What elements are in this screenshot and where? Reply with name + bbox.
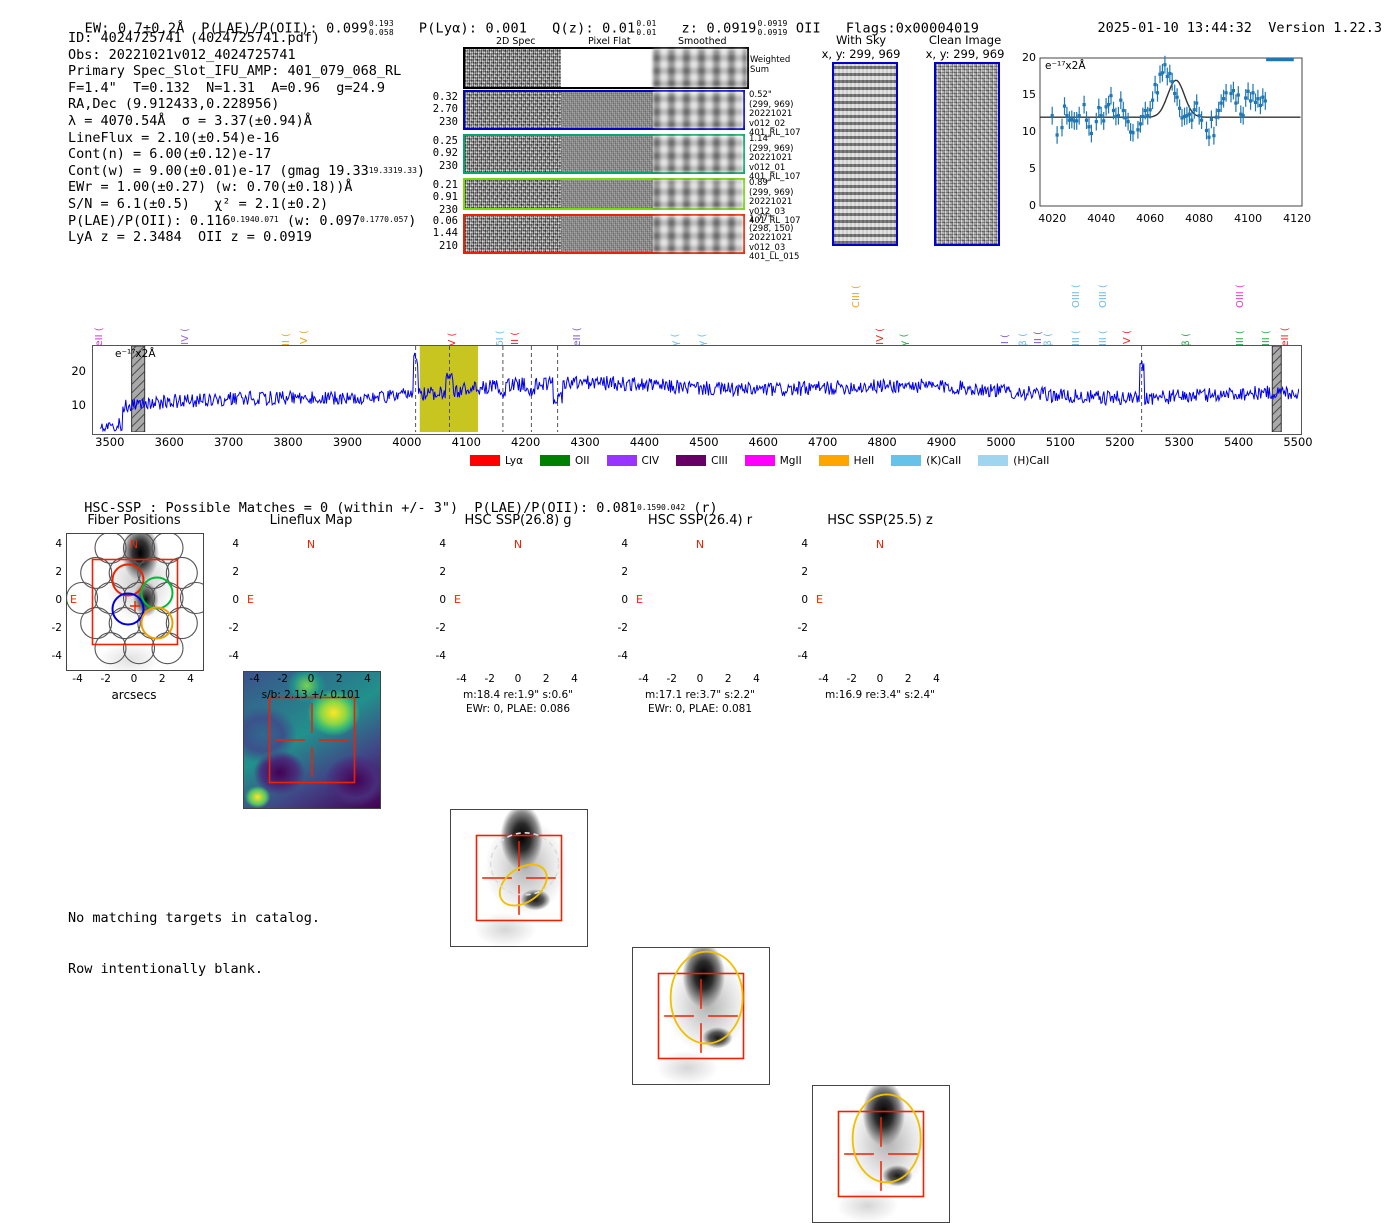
spectrum-xtick: 4500 <box>682 435 726 449</box>
panel-ytick: -2 <box>42 622 62 634</box>
panel-ytick: -2 <box>426 622 446 634</box>
spectrum-xtick: 3700 <box>207 435 251 449</box>
panel-xtick: 2 <box>532 673 560 685</box>
spectrum-legend: LyαOIICIVCIIIMgIIHeII(K)CaII(H)CaII <box>470 450 1066 469</box>
panel-xtick: -2 <box>269 673 297 685</box>
fiber-row-value: 2.70 <box>424 103 458 115</box>
fiber-2dspec <box>465 92 561 128</box>
spectrum-ytick: 10 <box>60 398 86 412</box>
emission-line-label: OIII ( <box>1098 284 1109 308</box>
info-gmag-bounds: 19.3319.33 <box>369 167 417 176</box>
compass-north: N <box>508 538 528 551</box>
fiber-smoothed <box>653 92 743 128</box>
weighted-sum-pixelflat <box>561 49 653 87</box>
spectrum-xtick: 4100 <box>444 435 488 449</box>
line-fit-ytick: 0 <box>1012 199 1036 212</box>
panel-xlabel: arcsecs <box>42 689 226 702</box>
fiber-row-value: 1.44 <box>424 227 458 239</box>
panel-title: HSC SSP(26.4) r <box>622 513 778 528</box>
panel-caption: m:16.9 re:3.4" s:2.4" <box>784 689 976 702</box>
legend-item: OII <box>540 455 589 467</box>
panel-ytick: 2 <box>608 566 628 578</box>
panel-image[interactable] <box>632 947 770 1085</box>
fiber-row-value: 0.92 <box>424 147 458 159</box>
fiber-row-strip <box>463 178 745 210</box>
full-spectrum-panel: e⁻¹⁷x2Å <box>92 345 1302 435</box>
legend-item: CIII <box>676 455 728 467</box>
info-ewr: EWr = 1.00(±0.27) (w: 0.70(±0.18))Å <box>68 179 425 196</box>
fiber-row-left-labels: 0.322.70230 <box>424 91 458 128</box>
fiber-pixelflat <box>561 136 653 172</box>
spectrum-xtick: 4300 <box>563 435 607 449</box>
spectrum-xtick: 5500 <box>1276 435 1320 449</box>
cutout-title-cleanimage: Clean Image <box>912 33 1018 47</box>
panel-xtick: -4 <box>448 673 476 685</box>
fiber-row-value: 0.25 <box>424 135 458 147</box>
panel-xtick: 4 <box>922 673 950 685</box>
panel-ytick: 4 <box>42 538 62 550</box>
fiber-row-strip <box>463 134 745 174</box>
legend-swatch <box>745 455 775 466</box>
header-timestamp-version: 2025-01-10 13:44:32 Version 1.22.3 <box>1081 4 1382 36</box>
panel-xtick: 2 <box>148 673 176 685</box>
line-fit-plot: e⁻¹⁷x2Å <box>1040 58 1302 206</box>
panel-ytick: 2 <box>788 566 808 578</box>
legend-item: HeII <box>819 455 875 467</box>
fiber-row-value: 230 <box>424 160 458 172</box>
legend-swatch <box>978 455 1008 466</box>
compass-north: N <box>690 538 710 551</box>
info-radec: RA,Dec (9.912433,0.228956) <box>68 96 425 113</box>
panel-ytick: 4 <box>219 538 239 550</box>
panel-xtick: -2 <box>838 673 866 685</box>
line-fit-ytick: 5 <box>1012 162 1036 175</box>
emission-line-label: OIII ( <box>1235 284 1246 308</box>
panel-xtick: 0 <box>686 673 714 685</box>
legend-swatch <box>607 455 637 466</box>
panel-title: Lineflux Map <box>233 513 389 528</box>
compass-east: E <box>70 593 77 606</box>
legend-label: CIV <box>642 455 660 467</box>
header-version: Version 1.22.3 <box>1268 20 1382 36</box>
legend-label: Lyα <box>505 455 523 467</box>
spectrum-xtick: 3500 <box>88 435 132 449</box>
line-fit-xtick: 4100 <box>1231 212 1265 225</box>
cutout-image-withsky <box>832 62 898 246</box>
cutout-coords-withsky: x, y: 299, 969 <box>811 47 911 61</box>
info-primary-spec: Primary Spec_Slot_IFU_AMP: 401_079_068_R… <box>68 63 425 80</box>
legend-swatch <box>676 455 706 466</box>
fiber-row-left-labels: 0.210.91230 <box>424 179 458 216</box>
footer-line-1: No matching targets in catalog. <box>68 910 320 927</box>
spectrum-xtick: 4600 <box>741 435 785 449</box>
weighted-sum-2dspec <box>465 49 561 87</box>
spectrum-ytick: 20 <box>60 364 86 378</box>
fiber-meta-line: 401_LL_015 <box>749 253 799 263</box>
panel-ytick: 2 <box>42 566 62 578</box>
panel-xtick: 4 <box>176 673 204 685</box>
fiber-row-value: 230 <box>424 116 458 128</box>
cutout-image-cleanimage <box>934 62 1000 246</box>
legend-label: HeII <box>854 455 875 467</box>
panel-ytick: 2 <box>219 566 239 578</box>
header-qz-bounds: 0.010.01 <box>636 20 656 37</box>
panel-xtick: 0 <box>866 673 894 685</box>
emission-line-label: OIII ( <box>1071 284 1082 308</box>
panel-xtick: 4 <box>353 673 381 685</box>
fiber-smoothed <box>653 180 743 208</box>
panel-ytick: -4 <box>788 650 808 662</box>
info-lambda-sigma: λ = 4070.54Å σ = 3.37(±0.94)Å <box>68 113 425 130</box>
info-cont-n: Cont(n) = 6.00(±0.12)e-17 <box>68 146 425 163</box>
panel-xtick: -4 <box>64 673 92 685</box>
fiber-row-value: 0.91 <box>424 191 458 203</box>
fiber-row-value: 0.06 <box>424 215 458 227</box>
spectrum-xtick: 4900 <box>920 435 964 449</box>
fiber-row-metadata: 1.14"(299, 969)20221021v012_01401_RL_107 <box>749 135 801 183</box>
fiber-2dspec <box>465 180 561 208</box>
info-obs: Obs: 20221021v012_4024725741 <box>68 47 425 64</box>
legend-label: CIII <box>711 455 728 467</box>
line-fit-ytick: 10 <box>1012 125 1036 138</box>
legend-item: Lyα <box>470 455 523 467</box>
compass-east: E <box>454 593 461 606</box>
panel-xtick: 0 <box>504 673 532 685</box>
legend-item: MgII <box>745 455 802 467</box>
panel-xtick: -4 <box>241 673 269 685</box>
panel-ytick: -4 <box>42 650 62 662</box>
source-info-block: ID: 4024725741 (4024725741.pdf) Obs: 202… <box>68 30 425 246</box>
fiber-row-metadata: 1.77"(298, 150)20221021v012_03401_LL_015 <box>749 215 799 263</box>
line-fit-xtick: 4080 <box>1182 212 1216 225</box>
info-lineflux: LineFlux = 2.10(±0.54)e-16 <box>68 130 425 147</box>
panel-ytick: -4 <box>426 650 446 662</box>
panel-xtick: -2 <box>92 673 120 685</box>
panel-image[interactable] <box>812 1085 950 1223</box>
panel-ytick: -2 <box>219 622 239 634</box>
panel-caption: m:18.4 re:1.9" s:0.6" <box>422 689 614 702</box>
panel-xtick: 2 <box>894 673 922 685</box>
info-id: ID: 4024725741 (4024725741.pdf) <box>68 30 425 47</box>
panel-ytick: 0 <box>42 594 62 606</box>
cutout-coords-cleanimage: x, y: 299, 969 <box>912 47 1018 61</box>
panel-image[interactable] <box>66 533 204 671</box>
fiber-2dspec <box>465 136 561 172</box>
panel-ytick: -4 <box>219 650 239 662</box>
header-z: z: 0.0919 <box>681 21 756 37</box>
legend-swatch <box>540 455 570 466</box>
fiber-pixelflat <box>561 216 653 252</box>
info-plae-w-bounds: 0.1770.057 <box>360 216 408 225</box>
spectrum-xtick: 4200 <box>504 435 548 449</box>
fiber-smoothed <box>653 216 743 252</box>
panel-ytick: 0 <box>219 594 239 606</box>
panel-ytick: 2 <box>426 566 446 578</box>
spectrum-xtick: 5100 <box>1038 435 1082 449</box>
line-fit-xtick: 4020 <box>1035 212 1069 225</box>
footer-text: No matching targets in catalog. Row inte… <box>68 876 320 995</box>
header-z-bounds: 0.09190.0919 <box>757 20 787 37</box>
spectrum-xtick: 4000 <box>385 435 429 449</box>
hsc-plae-bounds: 0.1590.042 <box>637 504 685 513</box>
fiber-row-value: 0.21 <box>424 179 458 191</box>
spectrum-xtick: 4400 <box>623 435 667 449</box>
fiber-2dspec <box>465 216 561 252</box>
spectrum-xtick: 4800 <box>860 435 904 449</box>
legend-item: (H)CaII <box>978 455 1049 467</box>
compass-east: E <box>636 593 643 606</box>
fiber-pixelflat <box>561 92 653 128</box>
hsc-summary: HSC-SSP : Possible Matches = 0 (within +… <box>68 484 718 516</box>
compass-north: N <box>870 538 890 551</box>
footer-line-2: Row intentionally blank. <box>68 961 320 978</box>
legend-swatch <box>819 455 849 466</box>
spectrum-units: e⁻¹⁷x2Å <box>115 348 156 360</box>
panel-title: Fiber Positions <box>56 513 212 528</box>
weighted-sum-strip <box>463 47 749 89</box>
fiber-row-value: 0.32 <box>424 91 458 103</box>
panel-title: HSC SSP(25.5) z <box>802 513 958 528</box>
line-fit-ytick: 20 <box>1012 51 1036 64</box>
spectrum-xtick: 3600 <box>147 435 191 449</box>
line-fit-units: e⁻¹⁷x2Å <box>1045 60 1086 72</box>
col-title-2dspec: 2D Spec <box>496 36 536 47</box>
panel-caption: m:17.1 re:3.7" s:2.2" <box>604 689 796 702</box>
legend-swatch <box>470 455 500 466</box>
fiber-row-strip <box>463 90 745 130</box>
col-title-smoothed: Smoothed <box>678 36 727 47</box>
legend-label: (K)CaII <box>926 455 961 467</box>
fiber-row-left-labels: 0.061.44210 <box>424 215 458 252</box>
header-plya: P(Lyα): 0.001 <box>419 21 527 37</box>
spectrum-xtick: 5200 <box>1098 435 1142 449</box>
fiber-pixelflat <box>561 180 653 208</box>
panel-ytick: 0 <box>788 594 808 606</box>
compass-north: N <box>124 538 144 551</box>
legend-item: CIV <box>607 455 660 467</box>
spectrum-xtick: 5300 <box>1157 435 1201 449</box>
weighted-sum-label: Weighted Sum <box>750 56 790 75</box>
panel-ytick: 4 <box>788 538 808 550</box>
emission-line-label: CIII ( <box>851 285 862 308</box>
legend-item: (K)CaII <box>891 455 961 467</box>
compass-east: E <box>247 593 254 606</box>
info-cont-w: Cont(w) = 9.00(±0.01)e-17 (gmag 19.3319.… <box>68 163 425 180</box>
fiber-row-value: 210 <box>424 240 458 252</box>
panel-xtick: 0 <box>120 673 148 685</box>
line-fit-xtick: 4060 <box>1133 212 1167 225</box>
panel-xtick: 2 <box>714 673 742 685</box>
panel-ytick: 0 <box>608 594 628 606</box>
weighted-sum-smoothed <box>653 49 747 87</box>
spectrum-xtick: 3800 <box>266 435 310 449</box>
info-plae-bounds: 0.1940.071 <box>231 216 279 225</box>
legend-label: OII <box>575 455 589 467</box>
cutout-title-withsky: With Sky <box>811 33 911 47</box>
panel-caption-2: EWr: 0, PLAE: 0.086 <box>422 703 614 716</box>
spectrum-xtick: 5000 <box>979 435 1023 449</box>
header-timestamp: 2025-01-10 13:44:32 <box>1098 20 1252 36</box>
panel-ytick: 0 <box>426 594 446 606</box>
panel-xtick: -2 <box>476 673 504 685</box>
info-sn-chi2: S/N = 6.1(±0.5) χ² = 2.1(±0.2) <box>68 196 425 213</box>
panel-xtick: -4 <box>630 673 658 685</box>
compass-north: N <box>301 538 321 551</box>
panel-image[interactable] <box>450 809 588 947</box>
panel-xtick: 4 <box>560 673 588 685</box>
panel-ytick: -2 <box>788 622 808 634</box>
panel-caption: s/b: 2.13 +/- 0.101 <box>215 689 407 702</box>
header-qz: Q(z): 0.01 <box>552 21 635 37</box>
line-fit-ytick: 15 <box>1012 88 1036 101</box>
panel-title: HSC SSP(26.8) g <box>440 513 596 528</box>
panel-ytick: -2 <box>608 622 628 634</box>
info-redshifts: LyA z = 2.3484 OII z = 0.0919 <box>68 229 425 246</box>
legend-swatch <box>891 455 921 466</box>
panel-ytick: 4 <box>426 538 446 550</box>
fiber-smoothed <box>653 136 743 172</box>
panel-caption-2: EWr: 0, PLAE: 0.081 <box>604 703 796 716</box>
panel-ytick: -4 <box>608 650 628 662</box>
panel-xtick: -4 <box>810 673 838 685</box>
legend-label: MgII <box>780 455 802 467</box>
line-fit-xtick: 4120 <box>1280 212 1314 225</box>
panel-ytick: 4 <box>608 538 628 550</box>
panel-xtick: 0 <box>297 673 325 685</box>
spectrum-xtick: 5400 <box>1217 435 1261 449</box>
fiber-row-strip <box>463 214 745 254</box>
info-seeing: F=1.4" T=0.132 N=1.31 A=0.96 g=24.9 <box>68 80 425 97</box>
line-fit-xtick: 4040 <box>1084 212 1118 225</box>
compass-east: E <box>816 593 823 606</box>
panel-xtick: -2 <box>658 673 686 685</box>
spectrum-xtick: 4700 <box>801 435 845 449</box>
col-title-pixelflat: Pixel Flat <box>588 36 631 47</box>
fiber-row-left-labels: 0.250.92230 <box>424 135 458 172</box>
legend-label: (H)CaII <box>1013 455 1049 467</box>
panel-xtick: 2 <box>325 673 353 685</box>
panel-xtick: 4 <box>742 673 770 685</box>
fiber-row-metadata: 0.52"(299, 969)20221021v012_02401_RL_107 <box>749 91 801 139</box>
info-plae: P(LAE)/P(OII): 0.1160.1940.071 (w: 0.097… <box>68 213 425 230</box>
spectrum-xtick: 3900 <box>325 435 369 449</box>
